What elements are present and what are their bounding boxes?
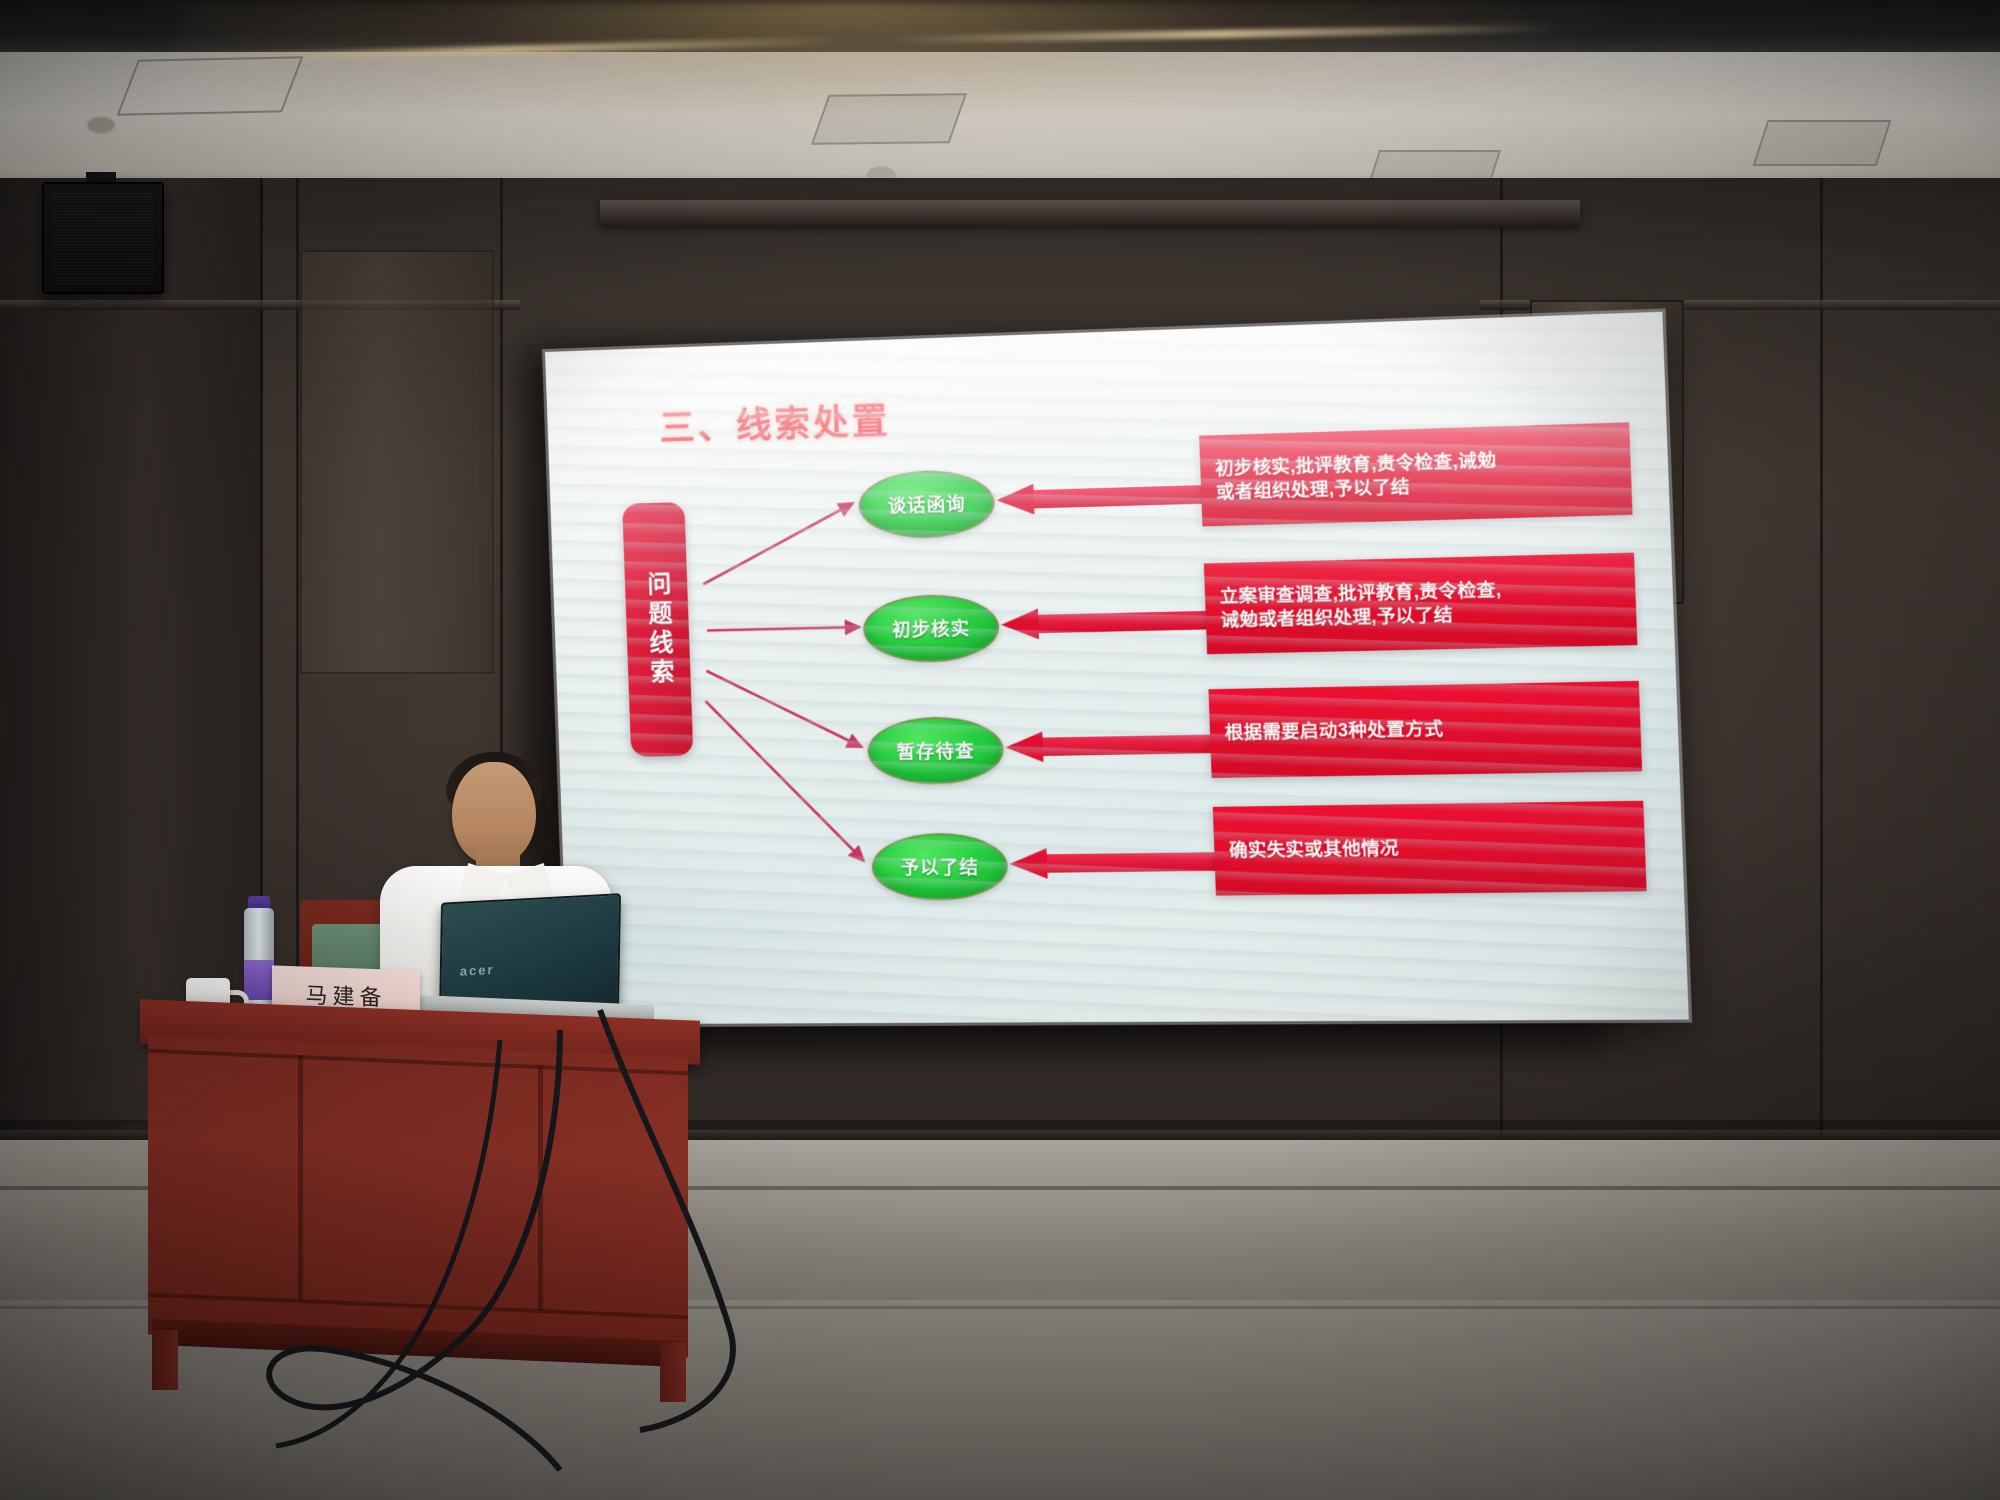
outcome-2-line-2: 诫勉或者组织处理,予以了结 — [1220, 602, 1502, 632]
soffit-beam — [600, 200, 1580, 226]
node-4: 予以了结 — [871, 832, 1009, 901]
node-1-label: 谈话函询 — [887, 490, 966, 519]
laptop-brand-logo: acer — [460, 962, 495, 979]
block-arrow-head — [996, 484, 1034, 516]
outcome-4-line-1: 确实失实或其他情况 — [1229, 837, 1400, 863]
wall-seam — [1820, 178, 1823, 1138]
block-arrow-head — [1009, 848, 1047, 879]
ceiling-speaker-icon — [88, 118, 114, 132]
cable-strand — [276, 1040, 500, 1446]
outcome-box-4: 确实失实或其他情况 — [1213, 801, 1647, 896]
block-arrow-shaft — [1040, 735, 1215, 756]
block-arrow-1 — [996, 479, 1206, 516]
block-arrow-4 — [1009, 846, 1219, 879]
slide-title: 三、线索处置 — [659, 392, 892, 451]
node-2-label: 初步核实 — [892, 614, 971, 642]
node-1: 谈话函询 — [858, 469, 996, 540]
block-arrow-3 — [1005, 728, 1215, 762]
slide-canvas: 三、线索处置 问题线索 谈话函询 — [545, 312, 1689, 1025]
source-box-problem-clue: 问题线索 — [622, 502, 693, 757]
node-3: 暂存待查 — [867, 716, 1005, 786]
outcome-1-text: 初步核实,批评教育,责令检查,诫勉 或者组织处理,予以了结 — [1215, 448, 1498, 504]
conference-room-photo: 三、线索处置 问题线索 谈话函询 — [0, 0, 2000, 1500]
connector-to-node-4 — [706, 698, 864, 862]
cable-strand — [600, 1010, 733, 1430]
block-arrow-shaft — [1031, 485, 1205, 508]
node-2: 初步核实 — [862, 593, 1000, 663]
outcome-3-line-1: 根据需要启动3种处置方式 — [1224, 718, 1443, 746]
outcome-4-text: 确实失实或其他情况 — [1229, 837, 1400, 863]
ceiling-vent — [1753, 120, 1892, 166]
ceiling-vent — [811, 93, 967, 144]
connector-to-node-1 — [701, 503, 856, 584]
block-arrow-head — [1005, 731, 1043, 762]
ceiling — [0, 0, 2000, 200]
outcome-3-text: 根据需要启动3种处置方式 — [1224, 718, 1443, 746]
block-arrow-shaft — [1036, 611, 1210, 633]
node-4-label: 予以了结 — [900, 853, 979, 880]
ceiling-panel — [117, 56, 304, 115]
floor-cables — [0, 1000, 2000, 1500]
outcome-box-2: 立案审查调查,批评教育,责令检查, 诫勉或者组织处理,予以了结 — [1204, 553, 1638, 655]
source-box-label: 问题线索 — [640, 571, 676, 688]
block-arrow-head — [1001, 609, 1039, 641]
outcome-2-text: 立案审查调查,批评教育,责令检查, 诫勉或者组织处理,予以了结 — [1219, 578, 1502, 632]
projection-screen: 三、线索处置 问题线索 谈话函询 — [545, 312, 1689, 1025]
outcome-box-3: 根据需要启动3种处置方式 — [1208, 681, 1642, 778]
outcome-box-1: 初步核实,批评教育,责令检查,诫勉 或者组织处理,予以了结 — [1199, 422, 1632, 526]
node-3-label: 暂存待查 — [896, 737, 975, 765]
connector-to-node-3 — [706, 668, 861, 750]
block-arrow-shaft — [1045, 852, 1220, 873]
door-frame — [300, 250, 494, 674]
wall-speaker — [42, 182, 164, 294]
cable-strand — [269, 1030, 560, 1470]
connector-to-node-2 — [707, 627, 859, 630]
bottle-label — [244, 960, 274, 1000]
block-arrow-2 — [1001, 605, 1211, 641]
